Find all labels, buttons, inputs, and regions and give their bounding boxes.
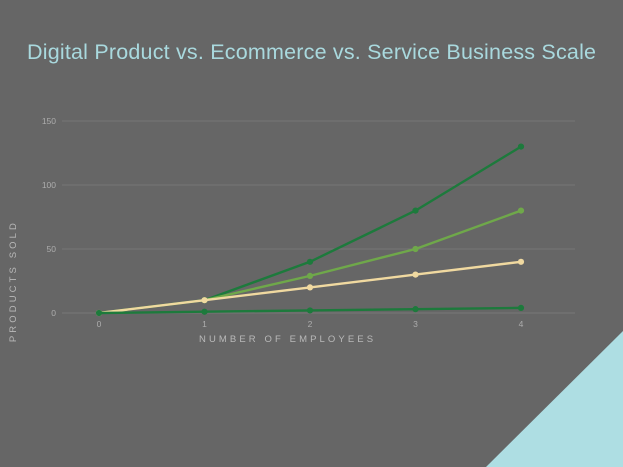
data-point-marker[interactable] [307,259,313,265]
y-tick-label: 100 [16,180,56,190]
x-tick-label: 4 [506,319,536,329]
gridlines [62,121,575,313]
data-point-marker[interactable] [307,273,313,279]
data-point-marker[interactable] [307,307,313,313]
y-tick-label: 150 [16,116,56,126]
y-tick-label: 0 [16,308,56,318]
data-point-marker[interactable] [518,144,524,150]
data-point-marker[interactable] [201,309,207,315]
data-point-marker[interactable] [96,310,102,316]
chart-page: Digital Product vs. Ecommerce vs. Servic… [0,0,623,467]
x-tick-label: 1 [190,319,220,329]
data-point-marker[interactable] [518,305,524,311]
data-point-marker[interactable] [518,259,524,265]
x-axis-title: NUMBER OF EMPLOYEES [199,334,376,345]
x-tick-label: 0 [84,319,114,329]
data-point-marker[interactable] [201,297,207,303]
data-point-marker[interactable] [412,208,418,214]
data-point-marker[interactable] [412,272,418,278]
data-series-group [96,144,524,317]
y-tick-label: 50 [16,244,56,254]
x-tick-label: 2 [295,319,325,329]
chart-plot-area: 050100150 01234 PRODUCTS SOLD NUMBER OF … [0,0,623,467]
line-chart-svg [0,0,623,467]
x-tick-label: 3 [401,319,431,329]
data-point-marker[interactable] [412,306,418,312]
data-point-marker[interactable] [307,284,313,290]
data-point-marker[interactable] [412,246,418,252]
data-point-marker[interactable] [518,208,524,214]
y-axis-title: PRODUCTS SOLD [8,220,19,342]
